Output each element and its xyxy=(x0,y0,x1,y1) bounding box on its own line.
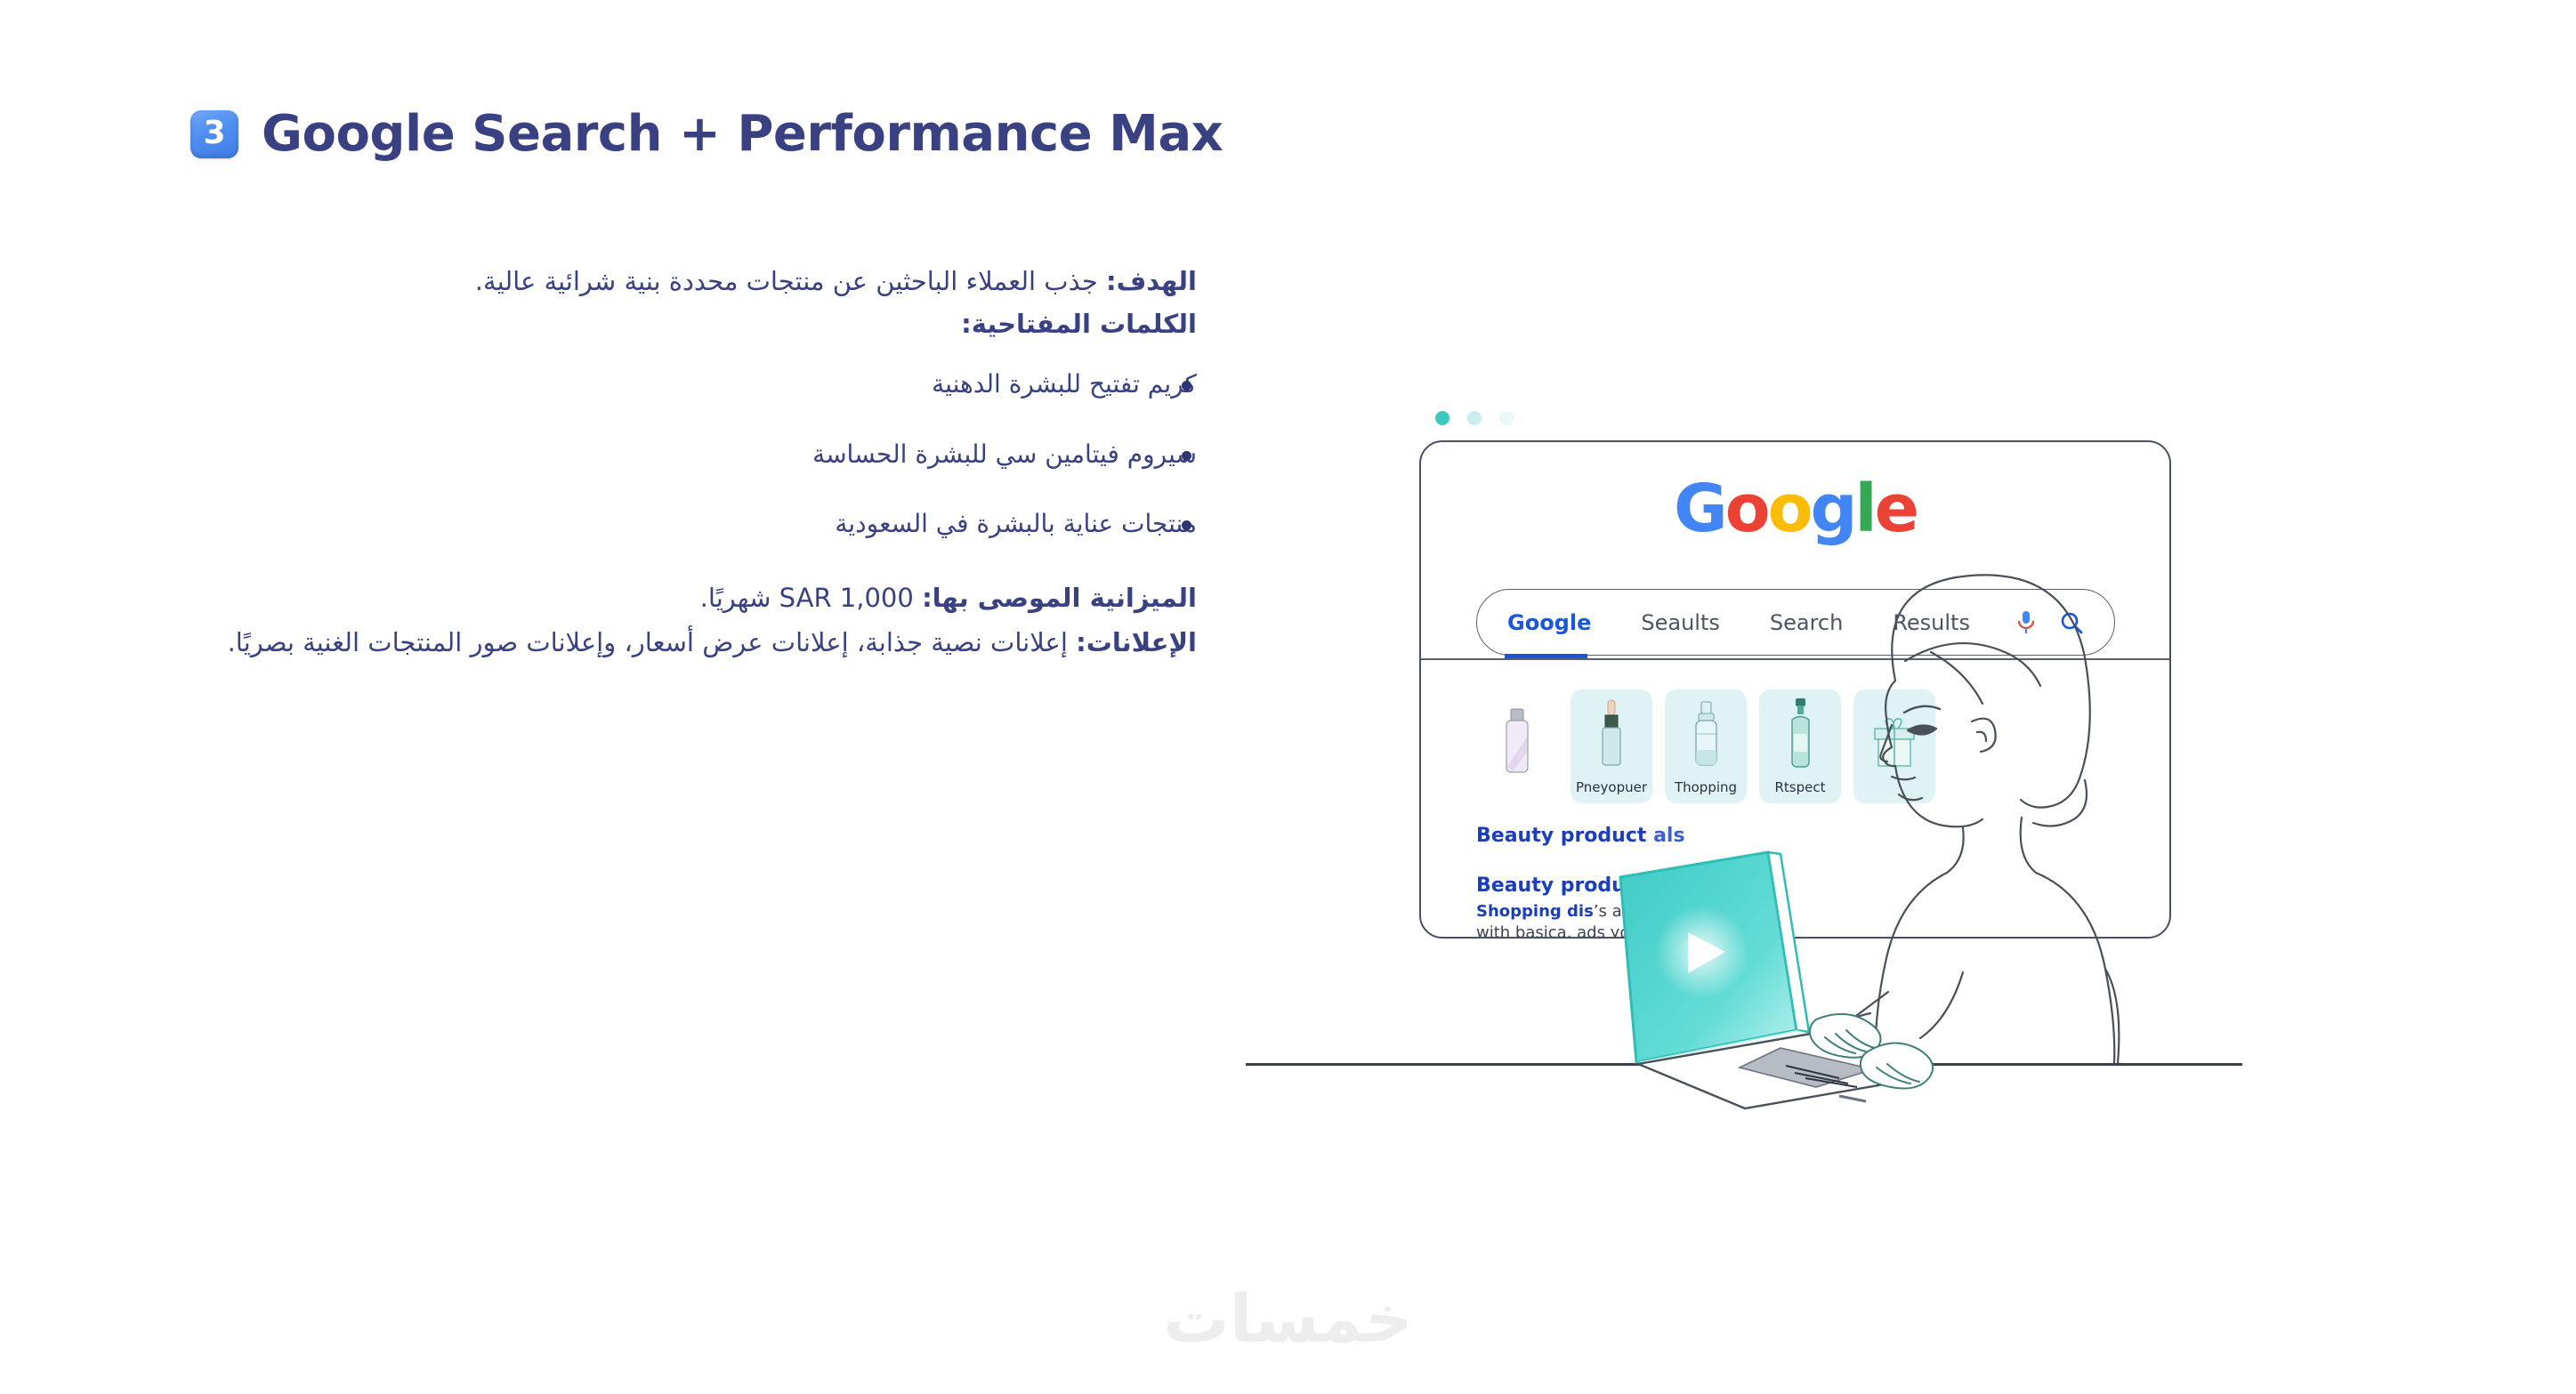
product-card-label: Pneyopuer xyxy=(1576,779,1647,795)
laptop-illustration xyxy=(1606,845,1980,1112)
logo-letter: l xyxy=(1854,471,1874,547)
keywords-list: كريم تفتيح للبشرة الدهنية سيروم فيتامين … xyxy=(214,369,1197,539)
budget-paragraph: الميزانية الموصى بها: SAR 1,000 شهريًا. xyxy=(214,579,1197,616)
watermark: خمسات xyxy=(0,1281,2576,1358)
logo-letter: o xyxy=(1725,471,1768,547)
window-dot-pale-icon xyxy=(1499,411,1514,425)
keywords-label: الكلمات المفتاحية: xyxy=(214,309,1197,339)
goal-paragraph: الهدف: جذب العملاء الباحثين عن منتجات مح… xyxy=(214,262,1197,300)
ad-desc-bold: Shopping dis xyxy=(1476,902,1594,921)
slide-root: 3 Google Search + Performance Max الهدف:… xyxy=(0,0,2576,1394)
product-card[interactable]: Thopping xyxy=(1665,689,1747,803)
logo-letter: g xyxy=(1810,471,1854,547)
product-card-label: Thopping xyxy=(1675,779,1737,795)
budget-value: SAR 1,000 شهريًا. xyxy=(700,583,922,613)
goal-text: جذب العملاء الباحثين عن منتجات محددة بني… xyxy=(475,266,1106,296)
content-column: الهدف: جذب العملاء الباحثين عن منتجات مح… xyxy=(214,262,1197,662)
dropper-bottle-icon xyxy=(1571,689,1652,779)
page-title: Google Search + Performance Max xyxy=(262,105,1223,163)
ads-text: إعلانات نصية جذابة، إعلانات عرض أسعار، و… xyxy=(228,627,1077,657)
window-dot-light-teal-icon xyxy=(1467,411,1482,425)
google-logo: Google xyxy=(1421,476,2169,542)
slide-header: 3 Google Search + Performance Max xyxy=(190,105,1223,163)
lotion-bottle-icon xyxy=(1476,689,1558,795)
ad-title-tail: als xyxy=(1653,825,1684,847)
logo-letter: e xyxy=(1875,471,1917,547)
tab-seaults[interactable]: Seaults xyxy=(1641,610,1720,635)
window-dots xyxy=(1435,411,1514,425)
list-item: سيروم فيتامين سي للبشرة الحساسة xyxy=(214,439,1197,470)
logo-letter: G xyxy=(1674,471,1725,547)
illustration: Google Google Seaults Search Results xyxy=(1317,374,2242,1112)
list-item: كريم تفتيح للبشرة الدهنية xyxy=(214,369,1197,399)
ad-title-main: Beauty product xyxy=(1476,825,1653,847)
tab-google[interactable]: Google xyxy=(1507,610,1591,635)
ads-paragraph: الإعلانات: إعلانات نصية جذابة، إعلانات ع… xyxy=(214,624,1197,663)
goal-label: الهدف: xyxy=(1106,266,1197,296)
list-item: منتجات عناية بالبشرة في السعودية xyxy=(214,509,1197,539)
budget-label: الميزانية الموصى بها: xyxy=(922,583,1197,613)
product-card[interactable]: Pneyopuer xyxy=(1571,689,1652,803)
spray-bottle-icon xyxy=(1665,689,1747,779)
logo-letter: o xyxy=(1768,471,1811,547)
product-card[interactable] xyxy=(1476,689,1558,803)
ads-label: الإعلانات: xyxy=(1076,627,1197,657)
step-number-badge: 3 xyxy=(190,110,238,158)
window-dot-teal-icon xyxy=(1435,411,1450,425)
